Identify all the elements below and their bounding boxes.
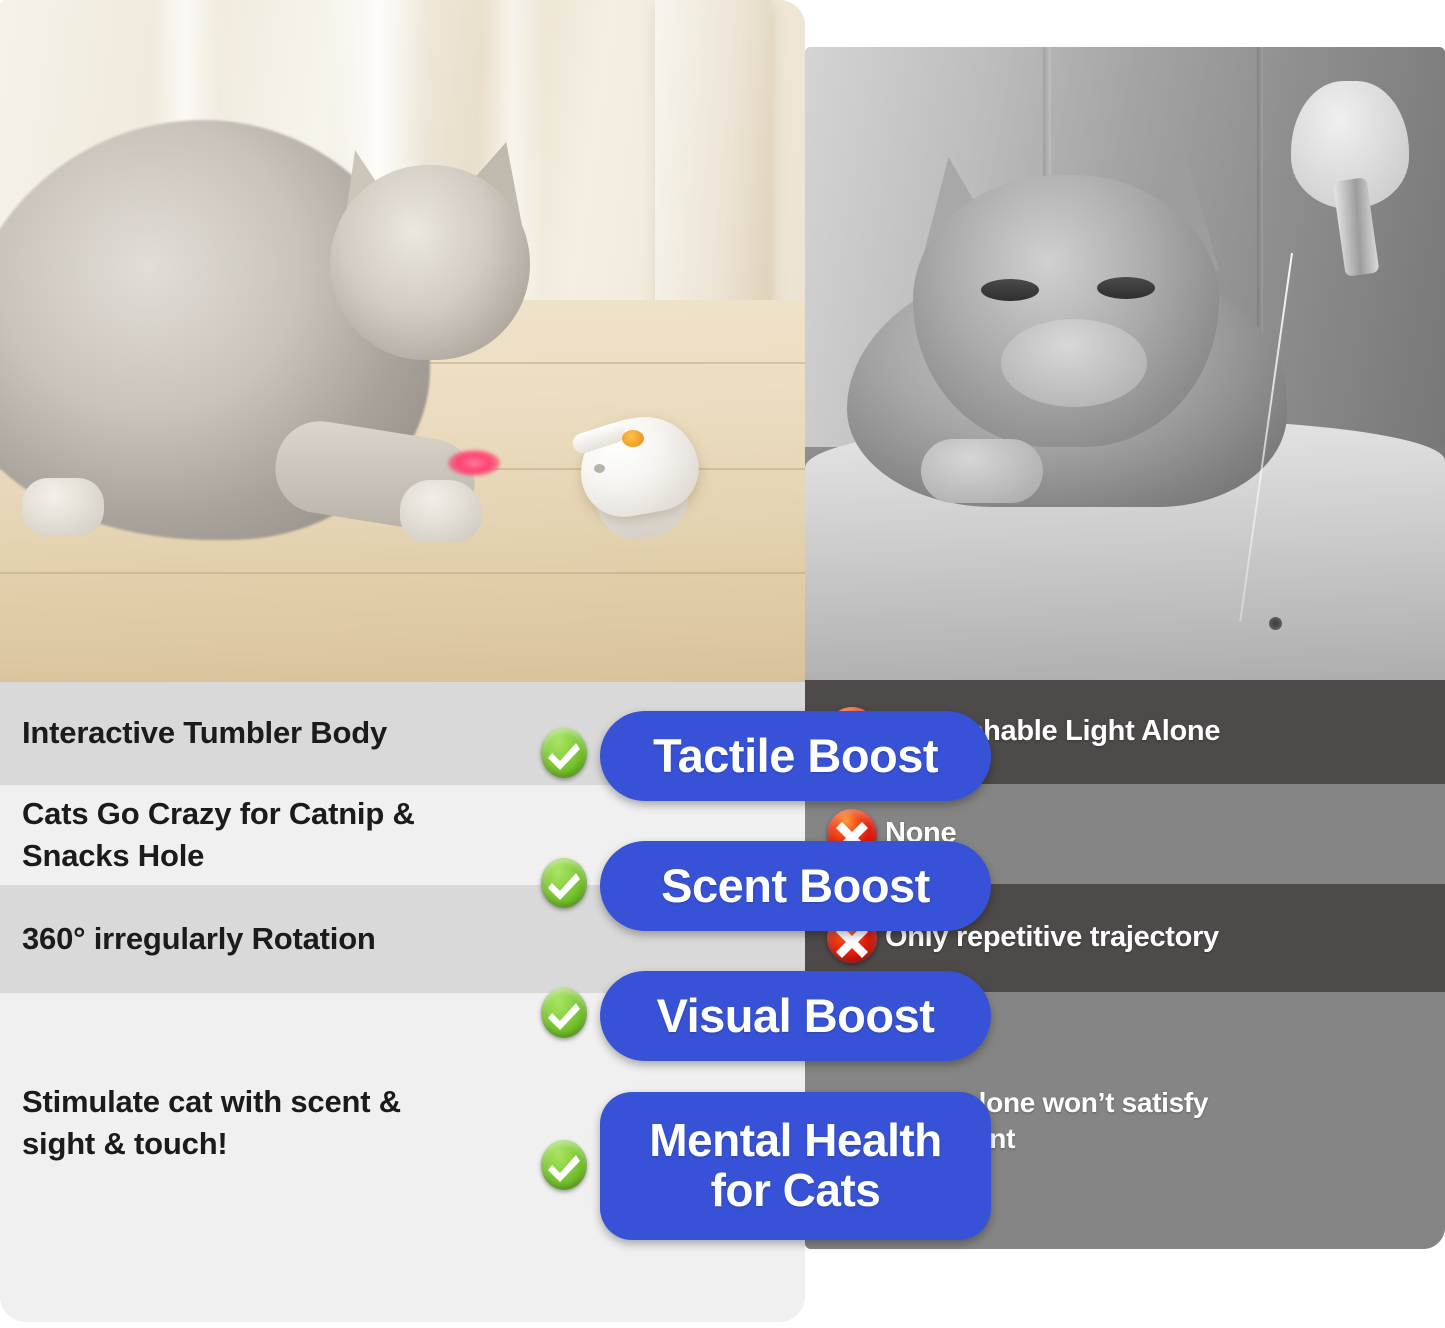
photo-cat-paw-front bbox=[400, 480, 482, 542]
benefit-badge-scent-boost[interactable]: Scent Boost bbox=[600, 841, 991, 931]
competitor-photo bbox=[805, 47, 1445, 680]
benefit-badge-mental-health[interactable]: Mental Health for Cats bbox=[600, 1092, 991, 1240]
competitor-panel: Untouchable Light Alone None Only repeti… bbox=[805, 47, 1445, 1249]
green-check-icon bbox=[541, 1140, 587, 1190]
product-row-4-text: Stimulate cat with scent & sight & touch… bbox=[22, 1081, 401, 1165]
photo-tumbler-toy-laser-emitter bbox=[622, 430, 644, 447]
photo-floor-plank-line bbox=[0, 572, 805, 574]
photo-cat-paw-rear bbox=[22, 478, 104, 536]
product-photo bbox=[0, 0, 805, 682]
green-check-icon bbox=[541, 988, 587, 1038]
benefit-badge-tactile-boost[interactable]: Tactile Boost bbox=[600, 711, 991, 801]
photo-cat-paw bbox=[921, 439, 1043, 503]
photo-cat-eye-left bbox=[981, 279, 1039, 301]
benefit-badge-visual-boost[interactable]: Visual Boost bbox=[600, 971, 991, 1061]
photo-laser-dot bbox=[448, 450, 500, 476]
product-row-1-text: Interactive Tumbler Body bbox=[22, 712, 387, 754]
green-check-icon bbox=[541, 728, 587, 778]
photo-cat-eye-right bbox=[1097, 277, 1155, 299]
photo-tumbler-toy-snack-hole bbox=[594, 464, 605, 473]
photo-laser-dot bbox=[1269, 617, 1282, 630]
product-row-3-text: 360° irregularly Rotation bbox=[22, 918, 376, 960]
infographic-canvas: Untouchable Light Alone None Only repeti… bbox=[0, 0, 1445, 1328]
product-row-2-text: Cats Go Crazy for Catnip & Snacks Hole bbox=[22, 793, 415, 877]
green-check-icon bbox=[541, 858, 587, 908]
photo-cat-muzzle bbox=[1001, 319, 1147, 407]
photo-cat-head bbox=[330, 165, 530, 360]
